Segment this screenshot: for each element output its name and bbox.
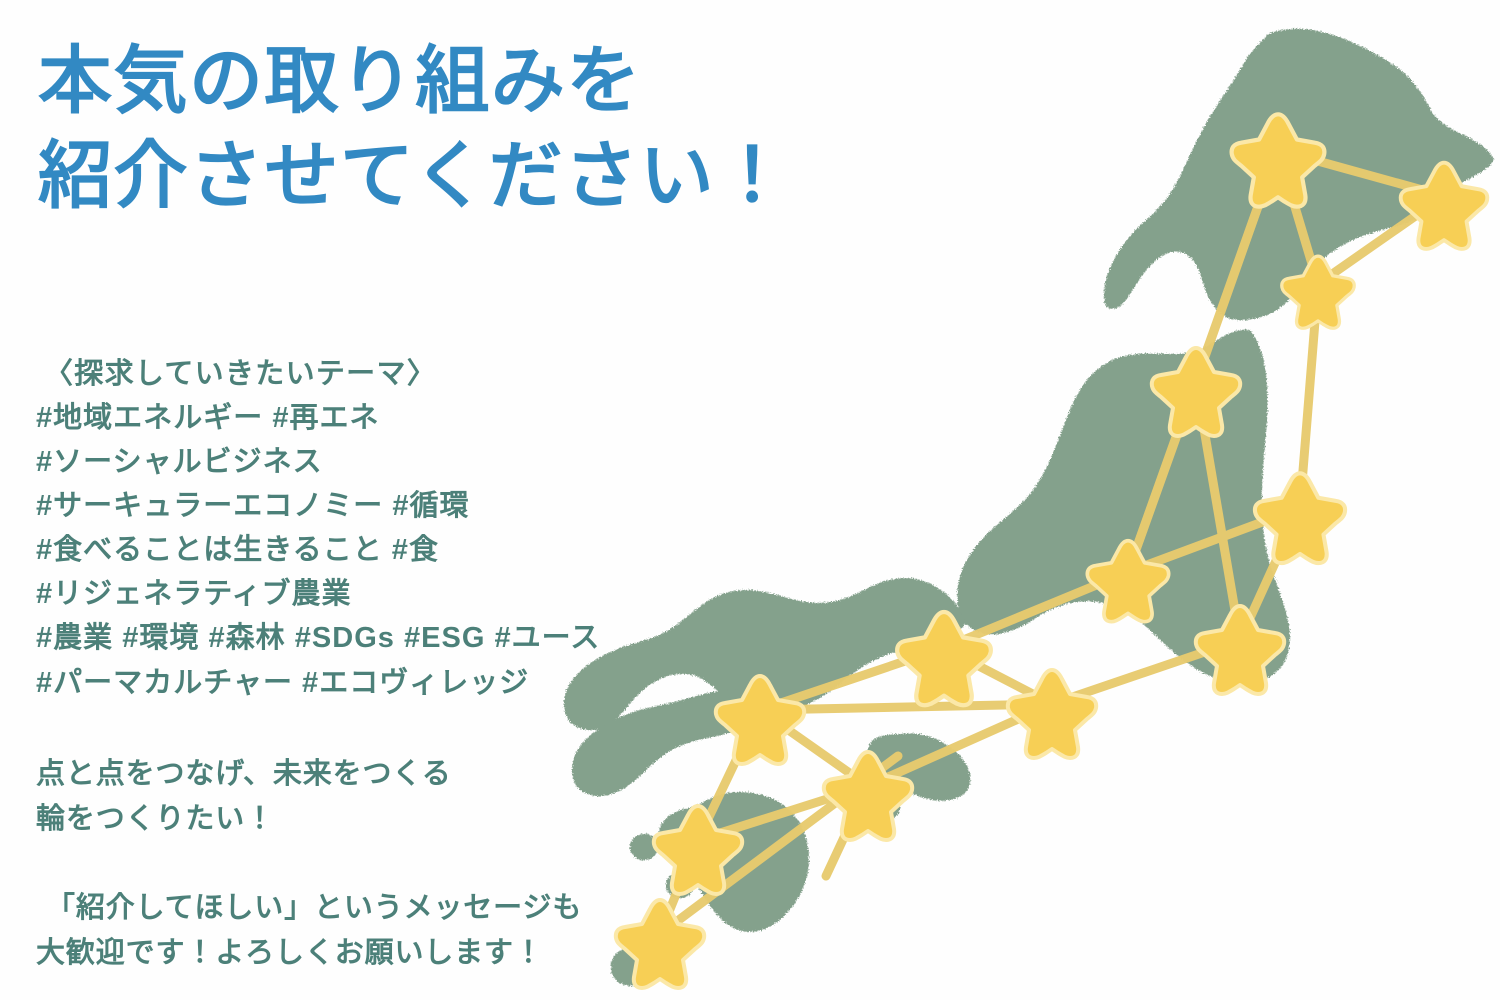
themes-block: 〈探求していきたいテーマ〉 #地域エネルギー #再エネ #ソーシャルビジネス #… [36,352,736,705]
message-para1-line1: 点と点をつなげ、未来をつくる [36,752,756,797]
theme-hashtag-line: #サーキュラーエコノミー #循環 [36,484,736,528]
theme-hashtag-line: #リジェネラティブ農業 [36,572,736,616]
theme-hashtag-line: #地域エネルギー #再エネ [36,396,736,440]
message-block: 点と点をつなげ、未来をつくる 輪をつくりたい！ 「紹介してほしい」というメッセー… [36,752,756,976]
themes-heading: 〈探求していきたいテーマ〉 [36,352,736,396]
headline-line-2: 紹介させてください！ [38,129,988,224]
paragraph-spacer [36,842,756,886]
theme-hashtag-line: #パーマカルチャー #エコヴィレッジ [36,661,736,705]
message-para2-line2: 大歓迎です！よろしくお願いします！ [36,931,756,976]
theme-hashtag-line: #ソーシャルビジネス [36,440,736,484]
headline-line-1: 本気の取り組みを [38,34,988,129]
message-para2-line1: 「紹介してほしい」というメッセージも [36,886,756,931]
headline: 本気の取り組みを 紹介させてください！ [38,34,988,223]
message-para1-line2: 輪をつくりたい！ [36,797,756,842]
theme-hashtag-line: #食べることは生きること #食 [36,528,736,572]
map-star [1255,473,1345,563]
poster-canvas: 本気の取り組みを 紹介させてください！ 〈探求していきたいテーマ〉 #地域エネル… [0,0,1500,1000]
theme-hashtag-line: #農業 #環境 #森林 #SDGs #ESG #ユース [36,616,736,660]
